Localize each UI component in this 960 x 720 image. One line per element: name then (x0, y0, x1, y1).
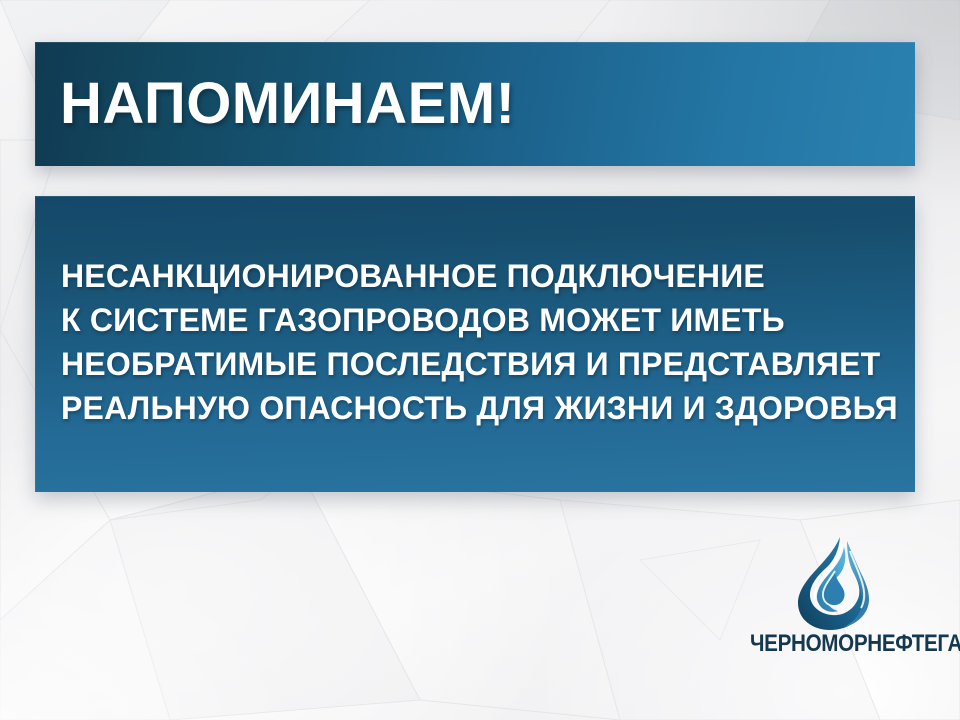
message-line-2: К СИСТЕМЕ ГАЗОПРОВОДОВ МОЖЕТ ИМЕТЬ (61, 298, 901, 342)
message-line-3: НЕОБРАТИМЫЕ ПОСЛЕДСТВИЯ И ПРЕДСТАВЛЯЕТ (61, 342, 901, 386)
header-banner: НАПОМИНАЕМ! (35, 42, 915, 166)
poster-canvas: НАПОМИНАЕМ! НЕСАНКЦИОНИРОВАННОЕ ПОДКЛЮЧЕ… (0, 0, 960, 720)
logo-wordmark: ЧЕРНОМОРНЕФТЕГАЗ (750, 631, 922, 656)
warning-message-text: НЕСАНКЦИОНИРОВАННОЕ ПОДКЛЮЧЕНИЕ К СИСТЕМ… (61, 254, 901, 430)
message-line-1: НЕСАНКЦИОНИРОВАННОЕ ПОДКЛЮЧЕНИЕ (61, 254, 901, 298)
message-line-4: РЕАЛЬНУЮ ОПАСНОСТЬ ДЛЯ ЖИЗНИ И ЗДОРОВЬЯ (61, 386, 901, 430)
gas-flame-droplet-icon (790, 535, 884, 631)
warning-message-panel: НЕСАНКЦИОНИРОВАННОЕ ПОДКЛЮЧЕНИЕ К СИСТЕМ… (35, 196, 915, 492)
company-logo: ЧЕРНОМОРНЕФТЕГАЗ (736, 535, 936, 670)
page-title: НАПОМИНАЕМ! (60, 75, 515, 133)
